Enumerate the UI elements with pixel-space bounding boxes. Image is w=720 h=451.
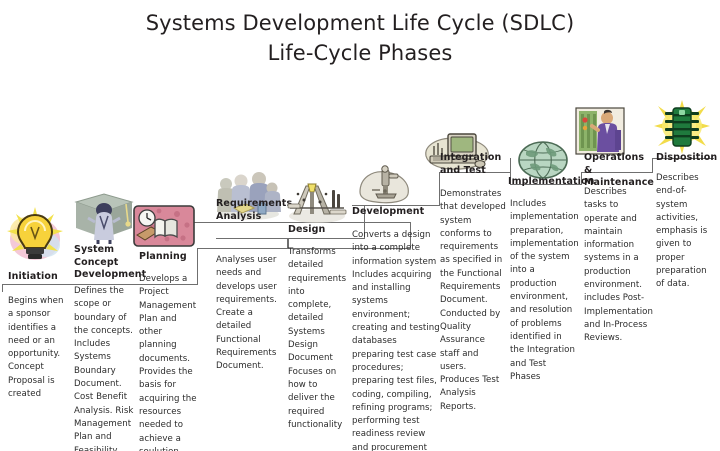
phase-title-design: Design	[288, 224, 346, 237]
phase-desc-requirements-analysis: Analyses user needs and develops user re…	[216, 254, 284, 374]
phase-title-initiation: Initiation	[8, 271, 70, 284]
phase-title-disposition: Disposition	[656, 152, 718, 165]
phase-desc-operations-and-maintenance: Describes tasks to operate and maintain …	[584, 186, 648, 346]
phase-title-operations-and-maintenance: Operations & Maintenance	[584, 152, 654, 190]
phase-desc-design: Transforms detailed requirements into co…	[288, 246, 344, 432]
phase-desc-implementation: Includes implementation preparation, imp…	[510, 198, 576, 384]
drafting-tools-icon	[286, 180, 348, 224]
phase-title-requirements-analysis: Requirements Analysis	[216, 198, 284, 223]
phase-desc-initiation: Begins when a sponsor identifies a need …	[8, 295, 66, 401]
step-line-requirements	[216, 238, 288, 239]
phase-title-planning: Planning	[139, 251, 201, 264]
step-riser-integration-up	[510, 158, 511, 173]
phase-desc-development: Converts a design into a complete inform…	[352, 229, 440, 451]
globe-icon	[516, 140, 570, 180]
phase-desc-integration-and-test: Demonstrates that developed system confo…	[440, 188, 506, 414]
phase-title-implementation: Implementation	[508, 176, 584, 189]
phase-desc-planning: Develops a Project Management Plan and o…	[139, 273, 197, 451]
page-title: Systems Development Life Cycle (SDLC) Li…	[0, 8, 720, 68]
phase-title-system-concept-development: System Concept Development	[74, 244, 148, 282]
phase-title-integration-and-test: Integration and Test	[440, 152, 498, 177]
person-at-board-icon	[574, 106, 626, 156]
graduation-cap-icon	[70, 188, 138, 246]
phase-desc-disposition: Describes end-of-system activities, emph…	[656, 172, 714, 292]
burst-server-icon	[654, 100, 710, 154]
microscope-icon	[356, 162, 414, 206]
open-book-clock-icon	[133, 205, 195, 247]
sdlc-diagram: Systems Development Life Cycle (SDLC) Li…	[0, 0, 720, 451]
title-line-1: Systems Development Life Cycle (SDLC)	[0, 8, 720, 38]
phase-desc-system-concept-development: Defines the scope or boundary of the con…	[74, 285, 136, 451]
title-line-2: Life-Cycle Phases	[0, 38, 720, 68]
phase-title-development: Development	[352, 206, 432, 219]
step-riser-initiation	[2, 284, 3, 292]
lightbulb-icon	[4, 205, 66, 267]
